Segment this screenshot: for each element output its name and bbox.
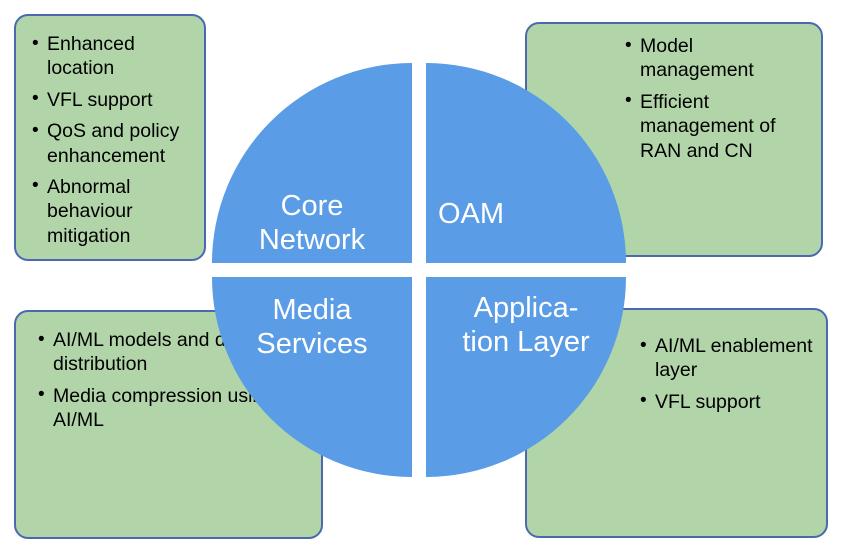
quadrant-wheel: Core Network OAM Media Services Applica-… (212, 63, 626, 477)
list-item-label: VFL support (47, 89, 153, 111)
list-item-label: VFL support (655, 391, 761, 413)
list-item-label: Model management (640, 35, 754, 81)
list-item: •VFL support (640, 390, 814, 414)
list-item: •Abnormal behaviour mitigation (32, 175, 192, 248)
list-item: •QoS and policy enhancement (32, 119, 192, 168)
quadrant-oam[interactable]: OAM (426, 63, 626, 263)
quadrant-core-network[interactable]: Core Network (212, 63, 412, 263)
bullet-icon: • (38, 328, 45, 352)
list-item-label: Abnormal behaviour mitigation (47, 176, 133, 247)
bullet-icon: • (32, 174, 39, 198)
bullet-icon: • (640, 334, 647, 358)
bullet-icon: • (32, 119, 39, 143)
list-item: •VFL support (32, 88, 192, 112)
list-item-label: QoS and policy enhancement (47, 120, 179, 166)
list-item-label: Enhanced location (47, 33, 135, 79)
bullet-icon: • (32, 87, 39, 111)
quadrant-application-layer[interactable]: Applica- tion Layer (426, 277, 626, 477)
list-item: •Enhanced location (32, 32, 192, 81)
list-item: •Efficient management of RAN and CN (625, 90, 809, 163)
diagram-canvas: •Enhanced location •VFL support •QoS and… (0, 0, 850, 550)
bullet-icon: • (640, 389, 647, 413)
bullet-icon: • (32, 32, 39, 56)
callout-core-network-list: •Enhanced location •VFL support •QoS and… (26, 26, 192, 248)
list-item: •AI/ML enablement layer (640, 334, 814, 383)
list-item-label: AI/ML enablement layer (655, 335, 813, 381)
bullet-icon: • (625, 34, 632, 58)
quadrant-core-network-label: Core Network (212, 189, 412, 257)
quadrant-media-services[interactable]: Media Services (212, 277, 412, 477)
list-item: •Model management (625, 34, 809, 83)
callout-core-network: •Enhanced location •VFL support •QoS and… (14, 14, 206, 261)
quadrant-oam-label: OAM (426, 197, 504, 231)
quadrant-media-services-label: Media Services (212, 293, 412, 361)
quadrant-application-layer-label: Applica- tion Layer (426, 291, 626, 359)
bullet-icon: • (38, 383, 45, 407)
list-item-label: Efficient management of RAN and CN (640, 91, 776, 162)
